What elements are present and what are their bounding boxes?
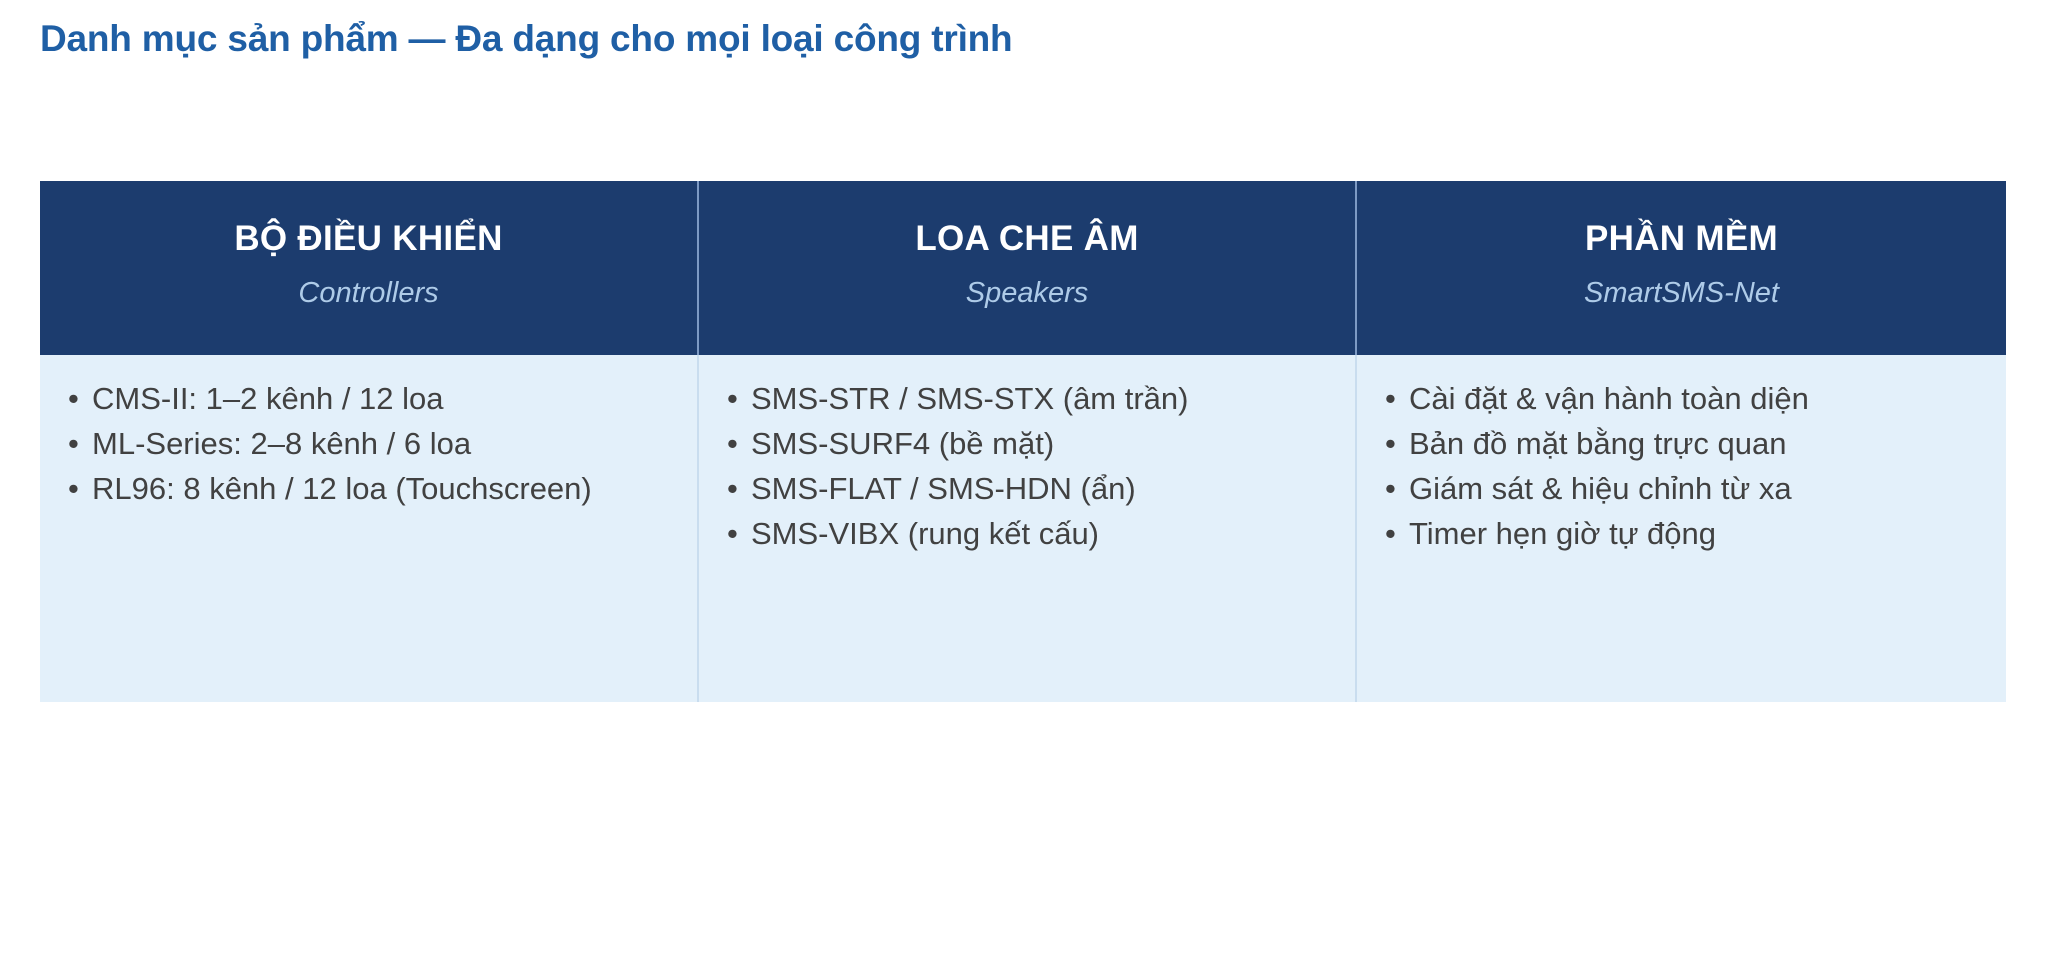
column-header-inner: LOA CHE ÂM Speakers — [699, 206, 1355, 329]
list-item: Giám sát & hiệu chỉnh từ xa — [1383, 467, 1980, 511]
table-body-row: CMS-II: 1–2 kênh / 12 loa ML-Series: 2–8… — [40, 355, 2006, 702]
column-subtitle-software: SmartSMS-Net — [1367, 278, 1996, 310]
list-item: SMS-FLAT / SMS-HDN (ẩn) — [725, 467, 1329, 511]
column-header-speakers: LOA CHE ÂM Speakers — [698, 181, 1356, 355]
slide-root: Danh mục sản phẩm — Đa dạng cho mọi loại… — [0, 0, 2048, 977]
column-title-controllers: BỘ ĐIỀU KHIỂN — [50, 220, 687, 259]
column-header-controllers: BỘ ĐIỀU KHIỂN Controllers — [40, 181, 698, 355]
list-item: SMS-STR / SMS-STX (âm trần) — [725, 377, 1329, 421]
list-item: Cài đặt & vận hành toàn diện — [1383, 377, 1980, 421]
bullet-list-software: Cài đặt & vận hành toàn diện Bản đồ mặt … — [1383, 377, 1980, 556]
column-body-controllers: CMS-II: 1–2 kênh / 12 loa ML-Series: 2–8… — [40, 355, 698, 702]
column-subtitle-controllers: Controllers — [50, 278, 687, 310]
column-body-software: Cài đặt & vận hành toàn diện Bản đồ mặt … — [1356, 355, 2006, 702]
page-title: Danh mục sản phẩm — Đa dạng cho mọi loại… — [40, 18, 1012, 60]
list-item: CMS-II: 1–2 kênh / 12 loa — [66, 377, 671, 421]
column-body-speakers: SMS-STR / SMS-STX (âm trần) SMS-SURF4 (b… — [698, 355, 1356, 702]
table-header-row: BỘ ĐIỀU KHIỂN Controllers LOA CHE ÂM Spe… — [40, 181, 2006, 355]
list-item: ML-Series: 2–8 kênh / 6 loa — [66, 422, 671, 466]
list-item: SMS-VIBX (rung kết cấu) — [725, 512, 1329, 556]
column-header-software: PHẦN MỀM SmartSMS-Net — [1356, 181, 2006, 355]
column-subtitle-speakers: Speakers — [709, 278, 1345, 310]
product-catalog-table: BỘ ĐIỀU KHIỂN Controllers LOA CHE ÂM Spe… — [40, 181, 2006, 702]
bullet-list-speakers: SMS-STR / SMS-STX (âm trần) SMS-SURF4 (b… — [725, 377, 1329, 556]
list-item: Timer hẹn giờ tự động — [1383, 512, 1980, 556]
list-item: Bản đồ mặt bằng trực quan — [1383, 422, 1980, 466]
column-header-inner: PHẦN MỀM SmartSMS-Net — [1357, 206, 2006, 329]
bullet-list-controllers: CMS-II: 1–2 kênh / 12 loa ML-Series: 2–8… — [66, 377, 671, 511]
list-item: RL96: 8 kênh / 12 loa (Touchscreen) — [66, 467, 671, 511]
list-item: SMS-SURF4 (bề mặt) — [725, 422, 1329, 466]
column-title-speakers: LOA CHE ÂM — [709, 220, 1345, 259]
column-header-inner: BỘ ĐIỀU KHIỂN Controllers — [40, 206, 697, 329]
column-title-software: PHẦN MỀM — [1367, 220, 1996, 259]
